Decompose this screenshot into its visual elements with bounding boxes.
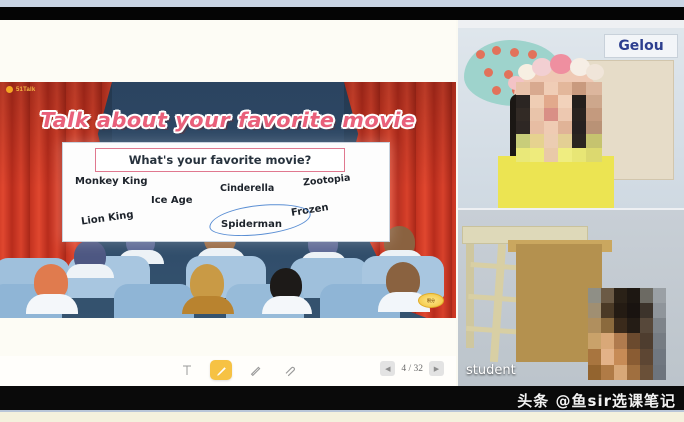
platform-logo-text: 51Talk <box>16 87 35 93</box>
eraser-tool-icon <box>249 364 262 377</box>
student-room-background <box>458 210 684 386</box>
flower-crown-petal <box>586 64 604 80</box>
spiderman-circle-annotation <box>208 201 312 240</box>
clip-tool-icon <box>283 364 296 377</box>
apple-decor <box>510 48 519 57</box>
movie-screen: What's your favorite movie? Monkey King … <box>62 142 390 242</box>
page-navigation[interactable]: ◀ 4 / 32 ▶ <box>380 361 444 376</box>
audience-shoulder <box>182 296 234 314</box>
teacher-dress <box>498 156 614 208</box>
pen-tool-button[interactable] <box>210 360 232 380</box>
apple-decor <box>476 50 485 59</box>
whiteboard-area[interactable]: 51Talk Talk about your favorite movie Wh… <box>0 20 456 386</box>
slide-title: Talk about your favorite movie <box>0 108 456 132</box>
video-panel-column: Gelou <box>458 20 684 386</box>
classroom-sign: Gelou <box>604 34 678 58</box>
question-text: What's your favorite movie? <box>129 153 312 167</box>
audience-shoulder <box>66 264 114 278</box>
pen-tool-icon <box>215 364 228 377</box>
flower-crown-petal <box>550 54 572 74</box>
student-name-label: student <box>466 363 516 378</box>
next-page-button[interactable]: ▶ <box>429 361 444 376</box>
text-tool-icon <box>181 364 193 376</box>
top-letterbox-bar <box>0 7 684 20</box>
apple-decor <box>492 86 501 95</box>
classroom-stage: 51Talk Talk about your favorite movie Wh… <box>0 20 684 386</box>
question-box: What's your favorite movie? <box>95 148 345 172</box>
movie-label-zootopia: Zootopia <box>303 173 351 189</box>
circle-logo-icon <box>6 86 13 93</box>
audience-shoulder <box>26 294 78 314</box>
reward-badge-text: 积分 <box>427 298 435 304</box>
top-edge-strip <box>0 0 684 7</box>
teacher-room-background: Gelou <box>458 28 684 208</box>
clip-tool-button[interactable] <box>278 360 300 380</box>
reward-badge: 积分 <box>418 293 444 308</box>
tool-group[interactable] <box>176 360 300 380</box>
board-toolbar[interactable]: ◀ 4 / 32 ▶ <box>0 356 456 386</box>
text-tool-button[interactable] <box>176 360 198 380</box>
student-video-pane[interactable]: student <box>458 210 684 386</box>
classroom-sign-text: Gelou <box>618 38 663 54</box>
student-face-pixelation-mask <box>588 288 666 380</box>
prev-page-button[interactable]: ◀ <box>380 361 395 376</box>
movie-label-cinderella: Cinderella <box>220 183 274 194</box>
page-indicator: 4 / 32 <box>401 364 423 374</box>
apple-decor <box>484 68 493 77</box>
movie-label-lion-king: Lion King <box>80 209 134 227</box>
watermark-text: 头条 @鱼sir选课笔记 <box>517 390 676 411</box>
movie-label-ice-age: Ice Age <box>151 195 193 206</box>
bottom-edge-strip <box>0 412 684 422</box>
flower-crown-petal <box>532 58 552 76</box>
lesson-slide[interactable]: 51Talk Talk about your favorite movie Wh… <box>0 82 456 318</box>
eraser-tool-button[interactable] <box>244 360 266 380</box>
apple-decor <box>492 46 501 55</box>
face-pixelation-mask <box>516 82 602 162</box>
platform-logo: 51Talk <box>6 86 35 93</box>
teacher-video-pane[interactable]: Gelou <box>458 28 684 208</box>
movie-label-monkey-king: Monkey King <box>75 176 148 187</box>
audience-shoulder <box>262 296 312 314</box>
apple-decor <box>528 50 537 59</box>
